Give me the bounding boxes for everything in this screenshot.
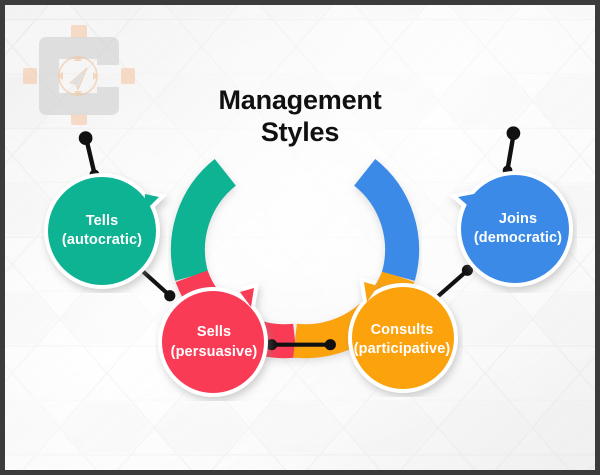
donut-segment-tells (188, 172, 225, 276)
node-sells[interactable]: Sells (persuasive) (155, 279, 279, 401)
bubble-shape-joins (445, 163, 577, 293)
node-consults[interactable]: Consults (participative) (339, 275, 463, 397)
donut-segment-joins (365, 172, 402, 276)
infographic-canvas: Management Styles (0, 0, 600, 475)
title-line-2: Styles (5, 117, 595, 149)
node-tells[interactable]: Tells (autocratic) (41, 169, 173, 293)
bubble-shape-tells (41, 169, 173, 293)
page-title: Management Styles (5, 85, 595, 149)
node-joins[interactable]: Joins (democratic) (445, 163, 577, 293)
title-line-1: Management (218, 85, 381, 115)
bubble-shape-sells (155, 279, 279, 401)
bubble-shape-consults (339, 275, 463, 397)
